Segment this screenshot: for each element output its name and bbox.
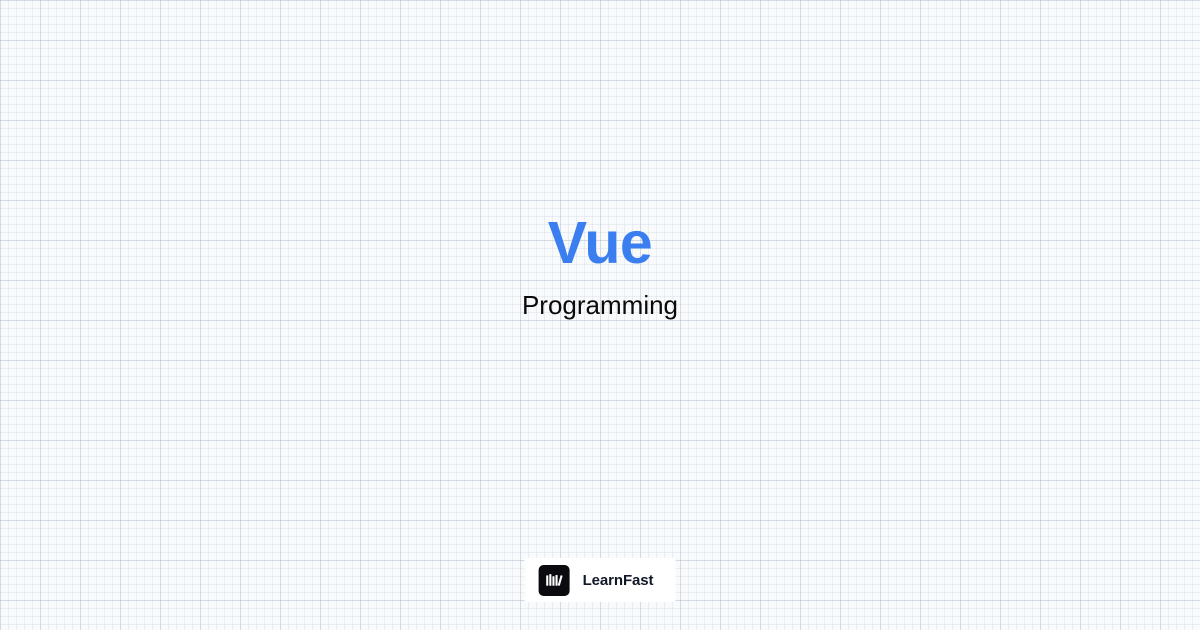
hero-text-block: Vue Programming <box>0 214 1200 321</box>
brand-badge[interactable]: LearnFast <box>525 558 676 602</box>
page-subtitle: Programming <box>0 273 1200 321</box>
slide-canvas: Vue Programming LearnFast <box>0 0 1200 630</box>
brand-name: LearnFast <box>583 572 654 589</box>
page-title: Vue <box>0 214 1200 273</box>
library-books-icon <box>539 565 570 596</box>
